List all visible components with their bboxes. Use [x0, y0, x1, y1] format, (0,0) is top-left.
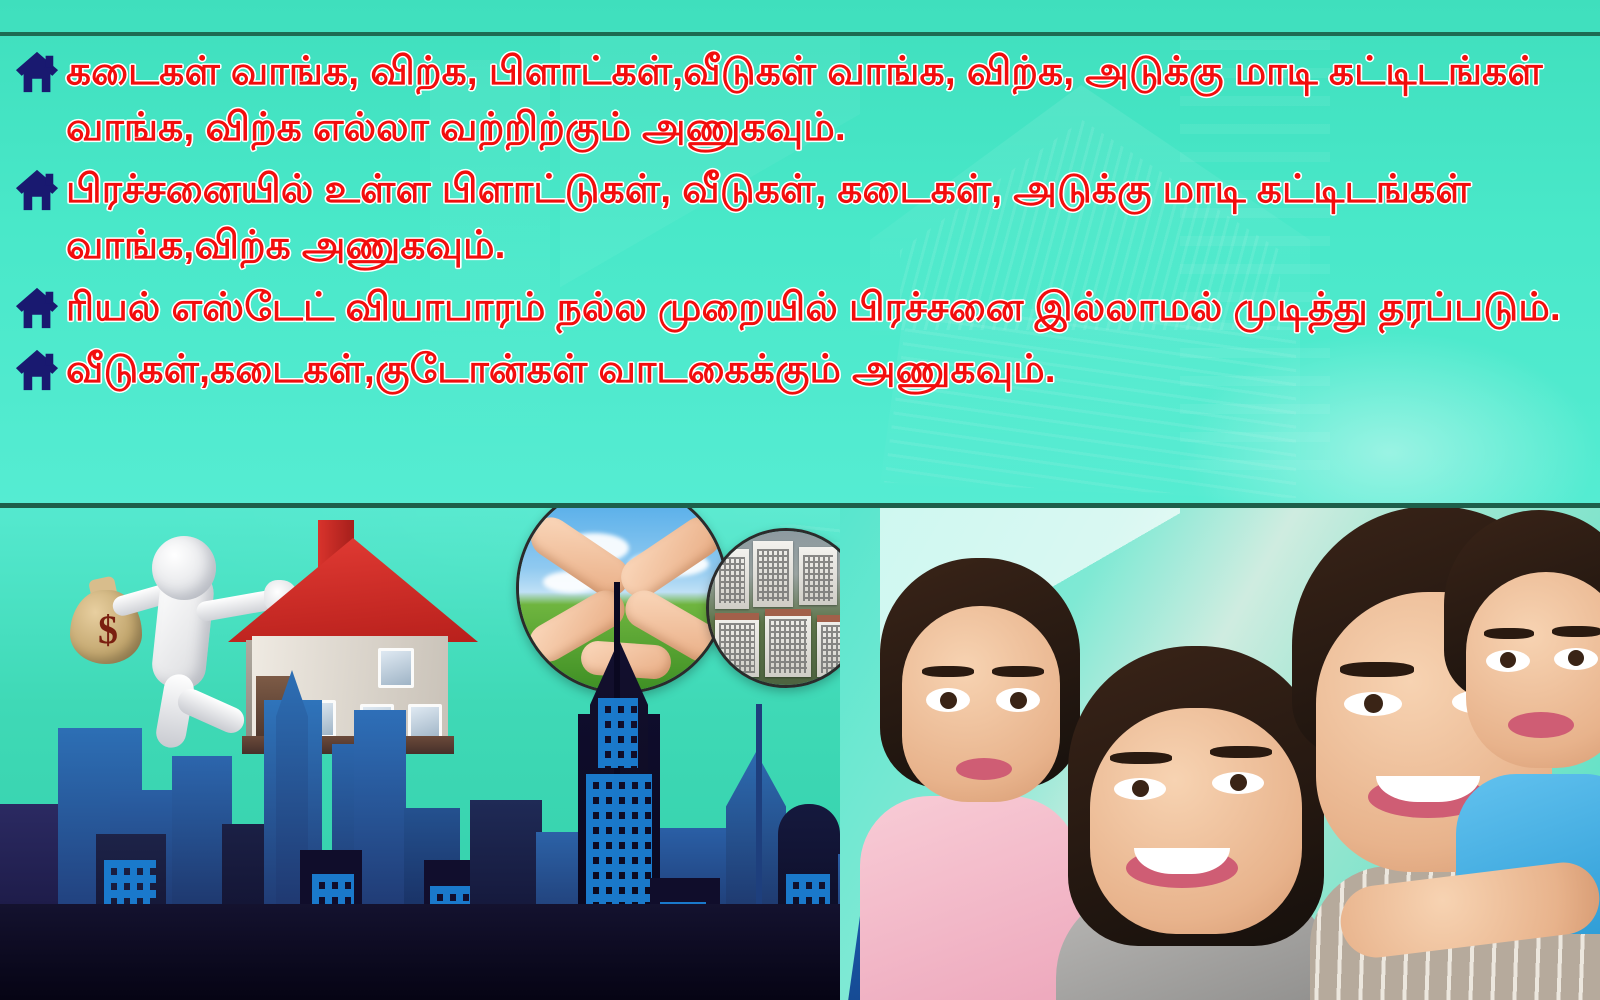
bullet-text: ரியல் எஸ்டேட் வியாபாரம் நல்ல முறையில் பி… [66, 280, 1600, 336]
top-divider-rule [0, 32, 1600, 36]
mother-face [1090, 708, 1302, 934]
home-icon [14, 286, 60, 330]
bullet-text: வீடுகள்,கடைகள்,குடோன்கள் வாடகைக்கும் அணு… [66, 342, 1600, 398]
girl-brow [992, 666, 1044, 677]
home-icon [14, 348, 60, 392]
mother-brow [1110, 752, 1172, 764]
boy-pupil [1500, 652, 1516, 668]
mother-pupil [1230, 774, 1247, 791]
home-icon [14, 168, 60, 212]
feature-bullet-list: கடைகள் வாங்க, விற்க, பிளாட்கள்,வீடுகள் வ… [0, 44, 1600, 404]
girl-lips [956, 758, 1012, 780]
father-pupil [1364, 694, 1383, 713]
girl-shirt [860, 796, 1080, 1000]
boy-brow [1484, 628, 1534, 639]
mother-brow [1210, 746, 1272, 758]
father-brow [1340, 662, 1414, 677]
smiling-family-photo [840, 506, 1600, 1000]
skyline-ground [0, 904, 980, 1000]
home-icon [14, 50, 60, 94]
list-item: வீடுகள்,கடைகள்,குடோன்கள் வாடகைக்கும் அணு… [0, 342, 1600, 398]
girl-pupil [940, 692, 957, 709]
girl-pupil [1010, 692, 1027, 709]
boy-lips [1508, 712, 1574, 738]
city-skyline-silhouette [0, 570, 980, 1000]
bottom-divider-rule [0, 503, 1600, 508]
boy-pupil [1568, 650, 1584, 666]
bullet-text: பிரச்சனையில் உள்ள பிளாட்டுகள், வீடுகள், … [66, 162, 1600, 274]
list-item: பிரச்சனையில் உள்ள பிளாட்டுகள், வீடுகள், … [0, 162, 1600, 274]
list-item: கடைகள் வாங்க, விற்க, பிளாட்கள்,வீடுகள் வ… [0, 44, 1600, 156]
bullet-text: கடைகள் வாங்க, விற்க, பிளாட்கள்,வீடுகள் வ… [66, 44, 1600, 156]
bottom-scene: $ [0, 506, 1600, 1000]
boy-face [1466, 572, 1600, 768]
skyline-tower-windows [598, 698, 638, 768]
girl-brow [922, 666, 974, 677]
mother-pupil [1132, 780, 1149, 797]
real-estate-banner: கடைகள் வாங்க, விற்க, பிளாட்கள்,வீடுகள் வ… [0, 0, 1600, 1000]
list-item: ரியல் எஸ்டேட் வியாபாரம் நல்ல முறையில் பி… [0, 280, 1600, 336]
boy-brow [1552, 626, 1600, 637]
